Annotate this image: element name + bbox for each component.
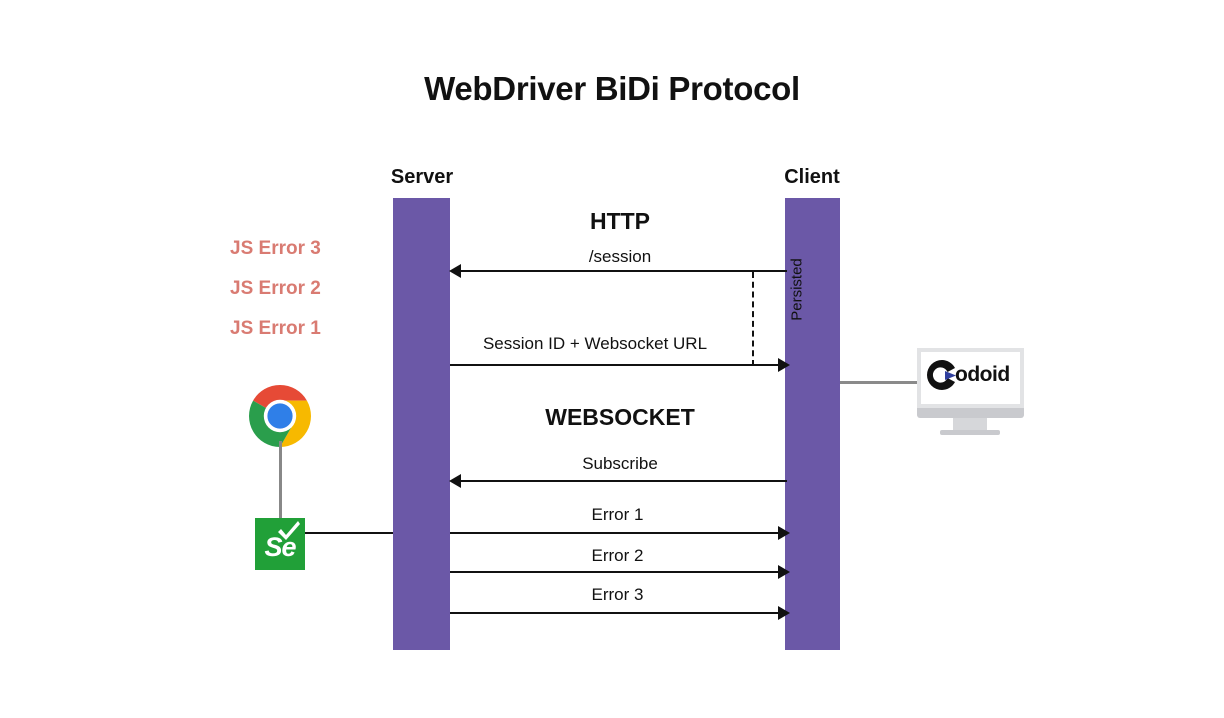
chrome-selenium-connector [279,441,282,523]
js-error-label-1: JS Error 1 [230,318,410,340]
message-label-error-2: Error 2 [450,546,785,566]
message-line-session-id [450,364,781,366]
message-label-session-id: Session ID + Websocket URL [440,334,750,354]
http-section-title: HTTP [450,208,790,235]
server-lane-label: Server [372,166,472,189]
message-label-subscribe: Subscribe [450,454,790,474]
message-label-error-1: Error 1 [450,505,785,525]
monitor-foot [940,430,1000,435]
persisted-label: Persisted [789,245,806,335]
persisted-dashed-line [752,272,754,366]
arrowhead-left-subscribe [449,474,461,488]
js-error-label-3: JS Error 3 [230,238,410,260]
monitor-base [917,408,1024,418]
websocket-section-title: WEBSOCKET [450,404,790,431]
selenium-server-connector [305,532,393,534]
message-label-session: /session [450,247,790,267]
codoid-mark-icon [925,358,959,392]
js-error-label-2: JS Error 2 [230,278,410,300]
message-line-subscribe [455,480,787,482]
chrome-logo-icon [248,384,312,448]
server-lifeline-bar [393,198,450,650]
client-monitor-connector [840,381,918,384]
selenium-logo-icon: Se [255,518,305,570]
arrowhead-right-error-3 [778,606,790,620]
page-title: WebDriver BiDi Protocol [0,70,1224,108]
message-line-session [455,270,787,272]
arrowhead-right-error-1 [778,526,790,540]
arrowhead-left-session [449,264,461,278]
selenium-label: Se [255,532,305,562]
message-line-error-2 [450,571,781,573]
message-line-error-3 [450,612,781,614]
codoid-wordmark: odoid [955,363,1025,387]
message-line-error-1 [450,532,781,534]
arrowhead-right-session-id [778,358,790,372]
arrowhead-right-error-2 [778,565,790,579]
message-label-error-3: Error 3 [450,585,785,605]
client-lane-label: Client [762,166,862,189]
diagram-canvas: WebDriver BiDi Protocol Server Client HT… [0,0,1224,718]
